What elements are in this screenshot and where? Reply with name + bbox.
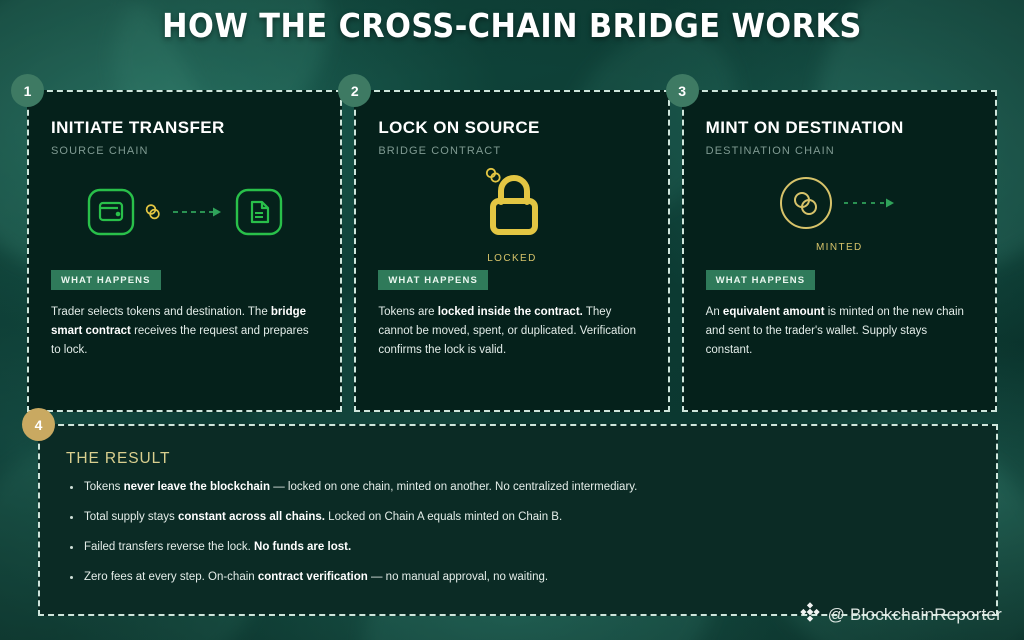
result-bullet-item: Zero fees at every step. On-chain contra… — [66, 570, 970, 585]
step-illustration-3: MINTED — [706, 158, 973, 270]
page-title: HOW THE CROSS-CHAIN BRIDGE WORKS — [41, 4, 983, 48]
step-subtitle-1: SOURCE CHAIN — [51, 144, 318, 158]
step-title-2: LOCK ON SOURCE — [378, 118, 645, 138]
step-card-2: 2 LOCK ON SOURCE BRIDGE CONTRACT LOCKED … — [354, 90, 669, 412]
result-title: THE RESULT — [66, 450, 970, 468]
step-icon-caption-3: MINTED — [816, 242, 863, 253]
step-title-1: INITIATE TRANSFER — [51, 118, 318, 138]
step-illustration-1 — [51, 158, 318, 270]
result-panel: 4 THE RESULT Tokens never leave the bloc… — [38, 424, 998, 616]
step-number-badge-2: 2 — [338, 74, 371, 107]
result-bullet-item: Tokens never leave the blockchain — lock… — [66, 480, 970, 495]
watermark: @ BlockchainReporter — [799, 601, 1002, 628]
result-bullet-item: Total supply stays constant across all c… — [66, 510, 970, 525]
step-card-3: 3 MINT ON DESTINATION DESTINATION CHAIN — [682, 90, 997, 412]
step-body-2: Tokens are locked inside the contract. T… — [378, 303, 645, 360]
watermark-text: @ BlockchainReporter — [828, 605, 1002, 625]
infographic-canvas: HOW THE CROSS-CHAIN BRIDGE WORKS 1 INITI… — [0, 0, 1024, 640]
padlock-locked-icon — [476, 164, 548, 247]
what-happens-badge-1: WHAT HAPPENS — [51, 270, 161, 290]
step-number-badge-4: 4 — [22, 408, 55, 441]
step-title-3: MINT ON DESTINATION — [706, 118, 973, 138]
step-card-1: 1 INITIATE TRANSFER SOURCE CHAIN — [27, 90, 342, 412]
step-body-1: Trader selects tokens and destination. T… — [51, 303, 318, 360]
step-number-badge-1: 1 — [11, 74, 44, 107]
what-happens-badge-2: WHAT HAPPENS — [378, 270, 488, 290]
coins-icon — [143, 202, 163, 227]
document-icon — [235, 188, 283, 241]
arrow-right-dashed-icon — [171, 205, 227, 224]
wallet-icon — [87, 188, 135, 241]
step-subtitle-3: DESTINATION CHAIN — [706, 144, 973, 158]
steps-row: 1 INITIATE TRANSFER SOURCE CHAIN — [27, 90, 997, 412]
result-bullet-list: Tokens never leave the blockchain — lock… — [66, 480, 970, 585]
what-happens-badge-3: WHAT HAPPENS — [706, 270, 816, 290]
step-illustration-2: LOCKED — [378, 158, 645, 270]
step-body-3: An equivalent amount is minted on the ne… — [706, 303, 973, 360]
result-bullet-item: Failed transfers reverse the lock. No fu… — [66, 540, 970, 555]
step-icon-caption-2: LOCKED — [487, 253, 537, 264]
step-subtitle-2: BRIDGE CONTRACT — [378, 144, 645, 158]
bnb-diamond-icon — [799, 601, 821, 628]
step-number-badge-3: 3 — [666, 74, 699, 107]
arrow-right-icon — [842, 196, 900, 215]
minted-coin-circle-icon — [778, 175, 834, 236]
